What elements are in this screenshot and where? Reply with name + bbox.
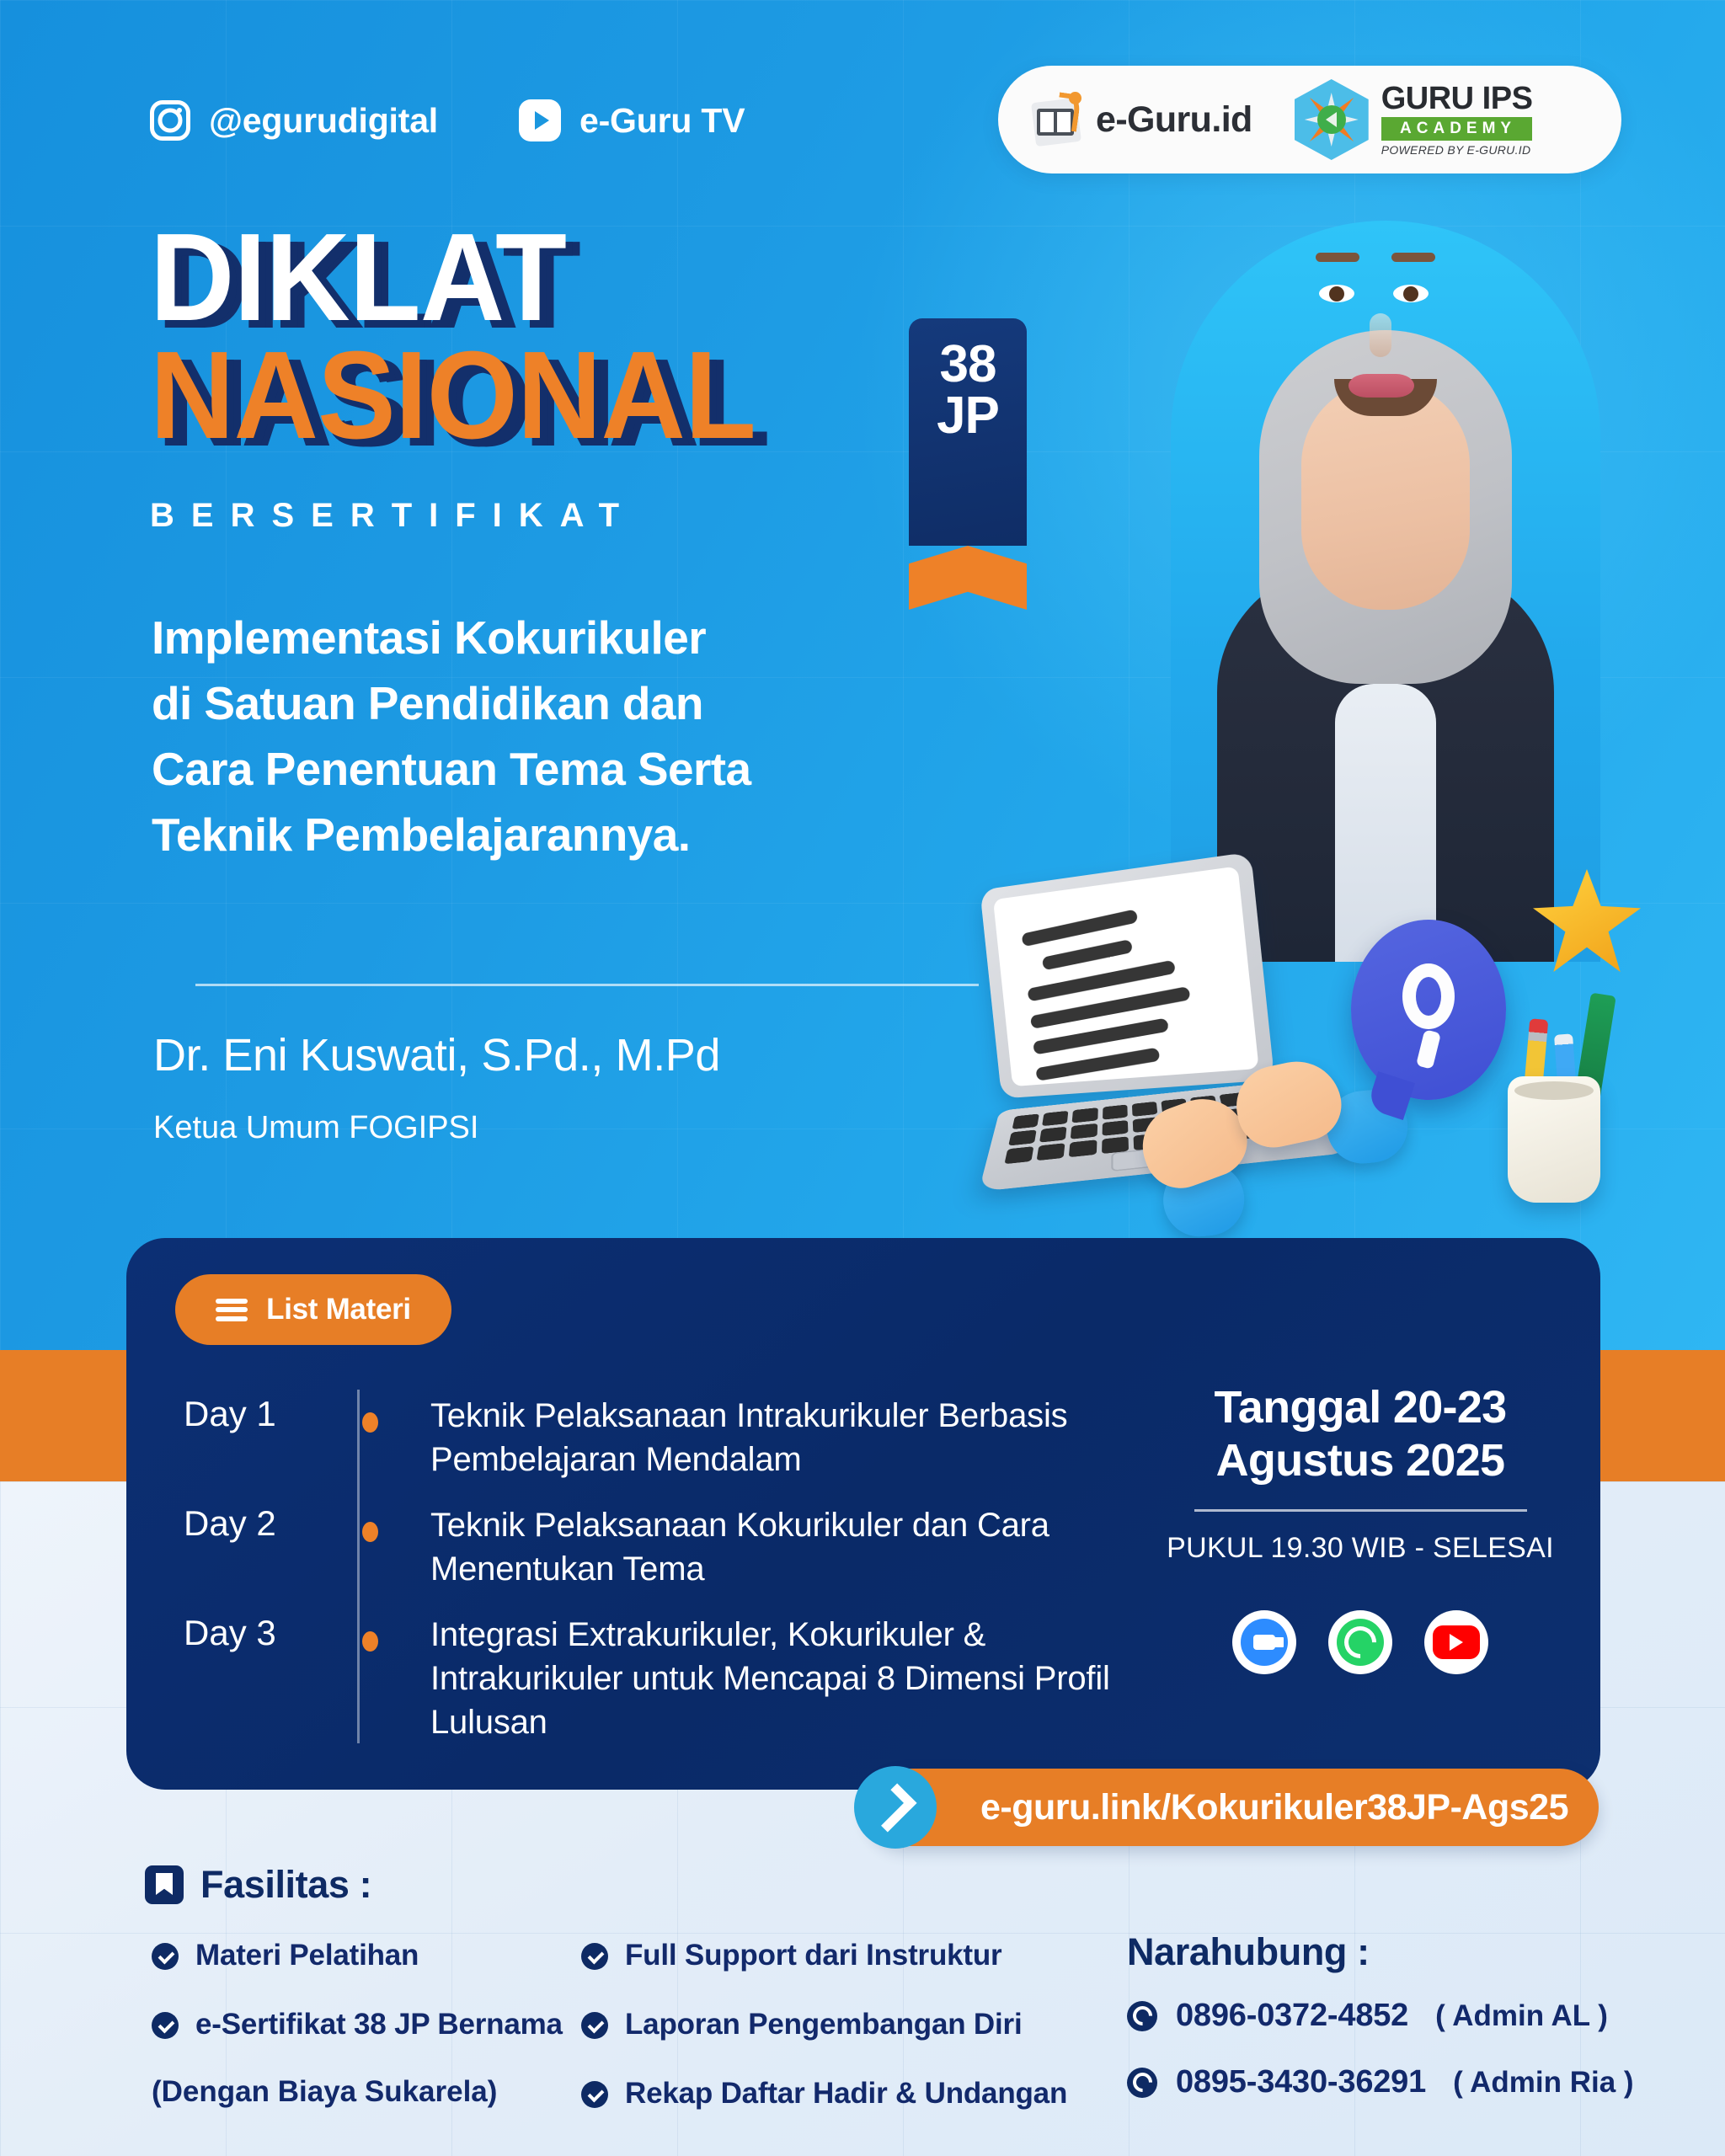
social-handles-row: @egurudigital e-Guru TV [150, 99, 745, 141]
laptop-screen [993, 866, 1259, 1086]
date-line-1: Tanggal 20-23 [1167, 1381, 1554, 1434]
speaker-role: Ketua Umum FOGIPSI [153, 1110, 478, 1146]
zoom-button[interactable] [1232, 1610, 1296, 1674]
list-item: Materi Pelatihan [152, 1937, 563, 1974]
schedule-divider [1194, 1509, 1527, 1512]
hamburger-icon [216, 1299, 248, 1321]
hero-line-diklat: DIKLAT [150, 221, 756, 335]
subtitle-line-4: Teknik Pembelajarannya. [152, 802, 994, 867]
jp-number: 38 [940, 340, 996, 390]
compass-hexagon-icon [1295, 79, 1369, 160]
fasilitas-subnote: (Dengan Biaya Sukarela) [152, 2075, 563, 2109]
narahubung-title: Narahubung : [1127, 1930, 1370, 1974]
schedule-block: Tanggal 20-23 Agustus 2025 PUKUL 19.30 W… [1167, 1381, 1554, 1674]
speaker-eye-right [1393, 285, 1429, 302]
list-item: Laporan Pengembangan Diri [581, 2006, 1067, 2043]
list-materi-tab[interactable]: List Materi [175, 1274, 451, 1345]
jp-unit: JP [937, 390, 999, 442]
fasilitas-text: Rekap Daftar Hadir & Undangan [625, 2075, 1067, 2112]
youtube-channel[interactable]: e-Guru TV [519, 99, 745, 141]
youtube-button[interactable] [1424, 1610, 1488, 1674]
fasilitas-title: Fasilitas : [200, 1863, 371, 1907]
bookmark-icon [145, 1865, 184, 1904]
whatsapp-button[interactable] [1328, 1610, 1392, 1674]
instagram-label: @egurudigital [209, 101, 438, 141]
fasilitas-text: Laporan Pengembangan Diri [625, 2006, 1022, 2043]
subtitle-line-3: Cara Penentuan Tema Serta [152, 736, 994, 802]
jp-badge-ribbon: 38 JP [909, 318, 1027, 546]
laptop-icon [963, 850, 1357, 1214]
contact-number: 0896-0372-4852 [1176, 1998, 1408, 2034]
timeline-dot [362, 1631, 378, 1652]
youtube-label: e-Guru TV [579, 101, 745, 141]
day-topic: Teknik Pelaksanaan Kokurikuler dan Cara … [430, 1503, 1138, 1591]
check-circle-icon [581, 2012, 608, 2039]
subtitle-line-1: Implementasi Kokurikuler [152, 605, 994, 670]
divider-rule [195, 984, 979, 986]
list-item[interactable]: 0895-3430-36291 ( Admin Ria ) [1127, 2064, 1634, 2100]
check-circle-icon [152, 2012, 179, 2039]
schedule-time: PUKUL 19.30 WIB - SELESAI [1167, 1532, 1554, 1565]
speaker-brow-right [1391, 253, 1435, 262]
timeline-dot [362, 1412, 378, 1433]
subtitle-line-2: di Satuan Pendidikan dan [152, 670, 994, 736]
materi-row-day3: Day 3 Integrasi Extrakurikuler, Kokuriku… [184, 1613, 1138, 1744]
fasilitas-heading: Fasilitas : [145, 1863, 371, 1907]
whatsapp-icon [1127, 2068, 1157, 2098]
hero-line-bersertifikat: BERSERTIFIKAT [150, 497, 794, 535]
materi-row-day1: Day 1 Teknik Pelaksanaan Intrakurikuler … [184, 1394, 1138, 1481]
day-label: Day 2 [184, 1503, 335, 1544]
laptop-lid [980, 851, 1274, 1098]
speaker-name: Dr. Eni Kuswati, S.Pd., M.Pd [153, 1029, 720, 1081]
star-icon [1533, 869, 1641, 972]
brand-logos-pill: e-Guru.id GURU IPS ACADEMY POWERED BY E-… [998, 66, 1621, 173]
check-circle-icon [581, 2081, 608, 2108]
zoom-icon [1241, 1619, 1288, 1666]
guru-ips-academy-logo: GURU IPS ACADEMY POWERED BY E-GURU.ID [1295, 79, 1533, 160]
check-circle-icon [581, 1943, 608, 1970]
contact-name: ( Admin Ria ) [1453, 2066, 1634, 2100]
list-materi-label: List Materi [266, 1293, 411, 1326]
speaker-lips [1348, 374, 1414, 398]
pen-cup-icon [1508, 1076, 1600, 1203]
hero-title-block: DIKLAT NASIONAL BERSERTIFIKAT [150, 221, 794, 535]
ips-academy-badge: ACADEMY [1381, 117, 1533, 141]
list-item: Full Support dari Instruktur [581, 1937, 1067, 1974]
whatsapp-icon [1127, 2001, 1157, 2031]
materi-row-day2: Day 2 Teknik Pelaksanaan Kokurikuler dan… [184, 1503, 1138, 1591]
check-circle-icon [152, 1943, 179, 1970]
whatsapp-icon [1337, 1619, 1384, 1666]
youtube-icon [1433, 1625, 1480, 1659]
instagram-handle[interactable]: @egurudigital [150, 100, 438, 141]
contact-number: 0895-3430-36291 [1176, 2064, 1426, 2100]
day-label: Day 1 [184, 1394, 335, 1434]
speaker-eye-left [1319, 285, 1354, 302]
registration-link-label: e-guru.link/Kokurikuler38JP-Ags25 [980, 1787, 1568, 1828]
list-item[interactable]: 0896-0372-4852 ( Admin AL ) [1127, 1998, 1634, 2034]
narahubung-list: 0896-0372-4852 ( Admin AL ) 0895-3430-36… [1127, 1998, 1634, 2131]
instagram-icon [150, 100, 190, 141]
fasilitas-text: Full Support dari Instruktur [625, 1937, 1001, 1974]
day-label: Day 3 [184, 1613, 335, 1653]
list-item: e-Sertifikat 38 JP Bernama [152, 2006, 563, 2043]
day-topic: Integrasi Extrakurikuler, Kokurikuler & … [430, 1613, 1138, 1744]
search-bubble-icon [1351, 920, 1506, 1100]
fasilitas-text: e-Sertifikat 38 JP Bernama [195, 2006, 563, 2043]
fasilitas-column-1: Materi Pelatihan e-Sertifikat 38 JP Bern… [152, 1937, 563, 2109]
event-subtitle: Implementasi Kokurikuler di Satuan Pendi… [152, 605, 994, 867]
open-book-icon [1032, 92, 1081, 147]
hero-line-nasional: NASIONAL [150, 339, 756, 453]
youtube-icon [519, 99, 561, 141]
speaker-nose [1370, 313, 1391, 357]
fasilitas-column-2: Full Support dari Instruktur Laporan Pen… [581, 1937, 1067, 2143]
ips-title: GURU IPS [1381, 83, 1533, 115]
illustration-group [960, 851, 1634, 1272]
contact-name: ( Admin AL ) [1435, 1999, 1608, 2033]
eguru-brand-label: e-Guru.id [1096, 99, 1252, 141]
list-item: Rekap Daftar Hadir & Undangan [581, 2075, 1067, 2112]
day-topic: Teknik Pelaksanaan Intrakurikuler Berbas… [430, 1394, 1138, 1481]
fasilitas-text: Materi Pelatihan [195, 1937, 419, 1974]
chevron-right-icon [854, 1766, 937, 1849]
platform-icons-row [1167, 1610, 1554, 1674]
registration-link-button[interactable]: e-guru.link/Kokurikuler38JP-Ags25 [866, 1769, 1599, 1846]
speaker-brow-left [1316, 253, 1359, 262]
ips-powered-by: POWERED BY E-GURU.ID [1381, 143, 1533, 157]
timeline-dot [362, 1522, 378, 1542]
date-line-2: Agustus 2025 [1167, 1434, 1554, 1487]
